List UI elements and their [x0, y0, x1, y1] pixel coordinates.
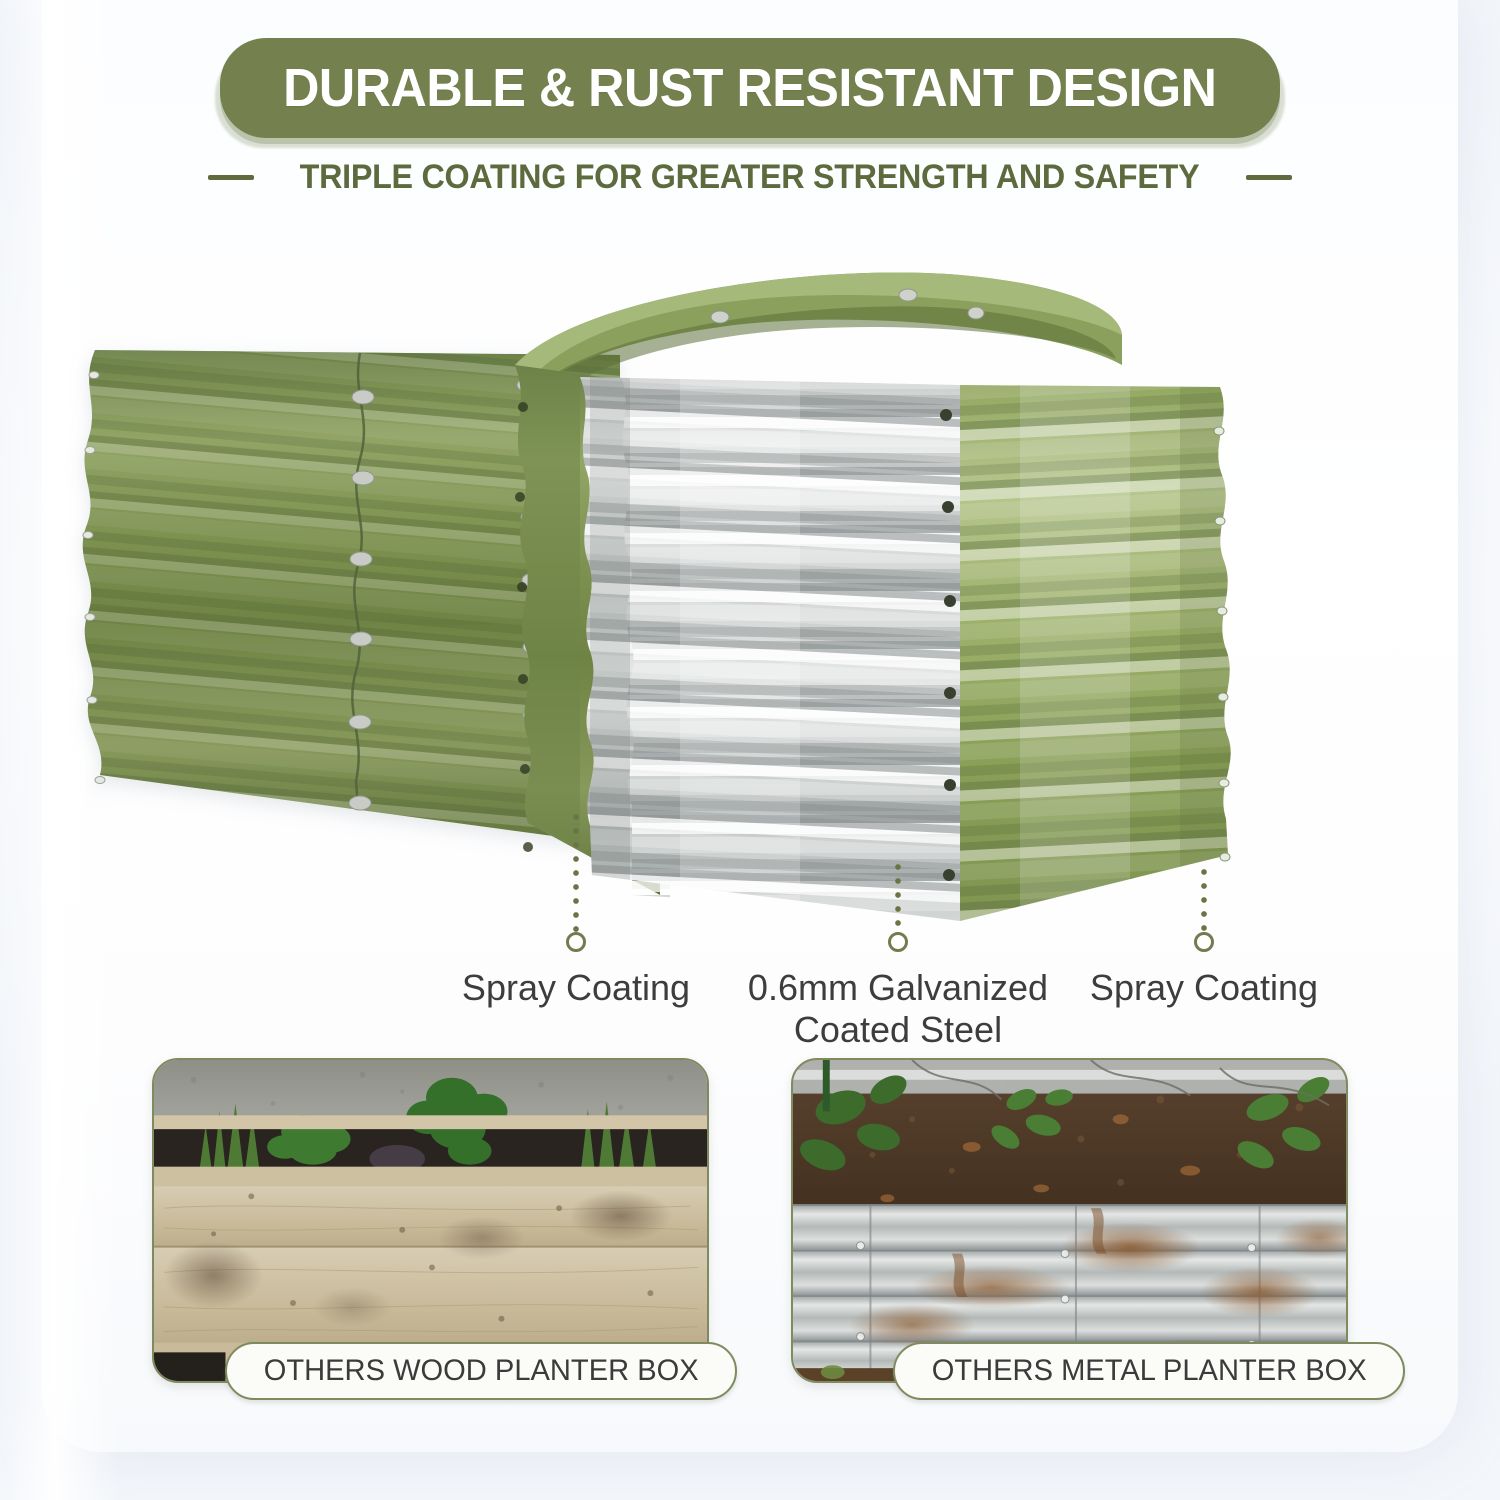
comparison-photo-metal	[791, 1058, 1348, 1383]
callout-label-line1: 0.6mm Galvanized	[748, 967, 1048, 1008]
metal-planter-image	[793, 1060, 1346, 1381]
callout-label: Spray Coating	[1090, 967, 1318, 1009]
callout-label: Spray Coating	[462, 967, 690, 1009]
callout-marker-icon	[1194, 932, 1214, 952]
caption-metal-planter: OTHERS METAL PLANTER BOX	[893, 1342, 1405, 1400]
wood-planter-illustration	[154, 1060, 707, 1381]
callout-leader-line	[1200, 865, 1208, 932]
comparison-section: OTHERS WOOD PLANTER BOX OTHERS METAL PLA…	[0, 1058, 1500, 1458]
dash-right-icon	[1246, 175, 1292, 180]
callout-leader-line	[572, 810, 580, 932]
callout-label: 0.6mm Galvanized Coated Steel	[728, 967, 1068, 1051]
infographic-page: DURABLE & RUST RESISTANT DESIGN TRIPLE C…	[0, 0, 1500, 1500]
caption-text: OTHERS METAL PLANTER BOX	[932, 1354, 1367, 1388]
page-title: DURABLE & RUST RESISTANT DESIGN	[283, 57, 1216, 119]
callout-leader-line	[894, 860, 902, 932]
product-illustration	[60, 235, 1360, 935]
comparison-photo-wood	[152, 1058, 709, 1383]
page-subtitle: TRIPLE COATING FOR GREATER STRENGTH AND …	[300, 158, 1200, 197]
callout-group: Spray Coating 0.6mm Galvanized Coated St…	[0, 905, 1500, 1055]
callout-label-line2: Coated Steel	[794, 1009, 1002, 1050]
metal-planter-illustration	[793, 1060, 1346, 1381]
caption-wood-planter: OTHERS WOOD PLANTER BOX	[225, 1342, 737, 1400]
header-banner-container: DURABLE & RUST RESISTANT DESIGN	[0, 38, 1500, 138]
callout-marker-icon	[566, 932, 586, 952]
caption-text: OTHERS WOOD PLANTER BOX	[264, 1354, 699, 1388]
right-green-panel	[925, 337, 1275, 935]
galvanized-steel-section	[527, 334, 1015, 935]
subtitle-row: TRIPLE COATING FOR GREATER STRENGTH AND …	[0, 158, 1500, 197]
product-svg	[60, 235, 1360, 935]
header-banner: DURABLE & RUST RESISTANT DESIGN	[220, 38, 1280, 138]
dash-left-icon	[208, 175, 254, 180]
callout-marker-icon	[888, 932, 908, 952]
wood-planter-image	[154, 1060, 707, 1381]
